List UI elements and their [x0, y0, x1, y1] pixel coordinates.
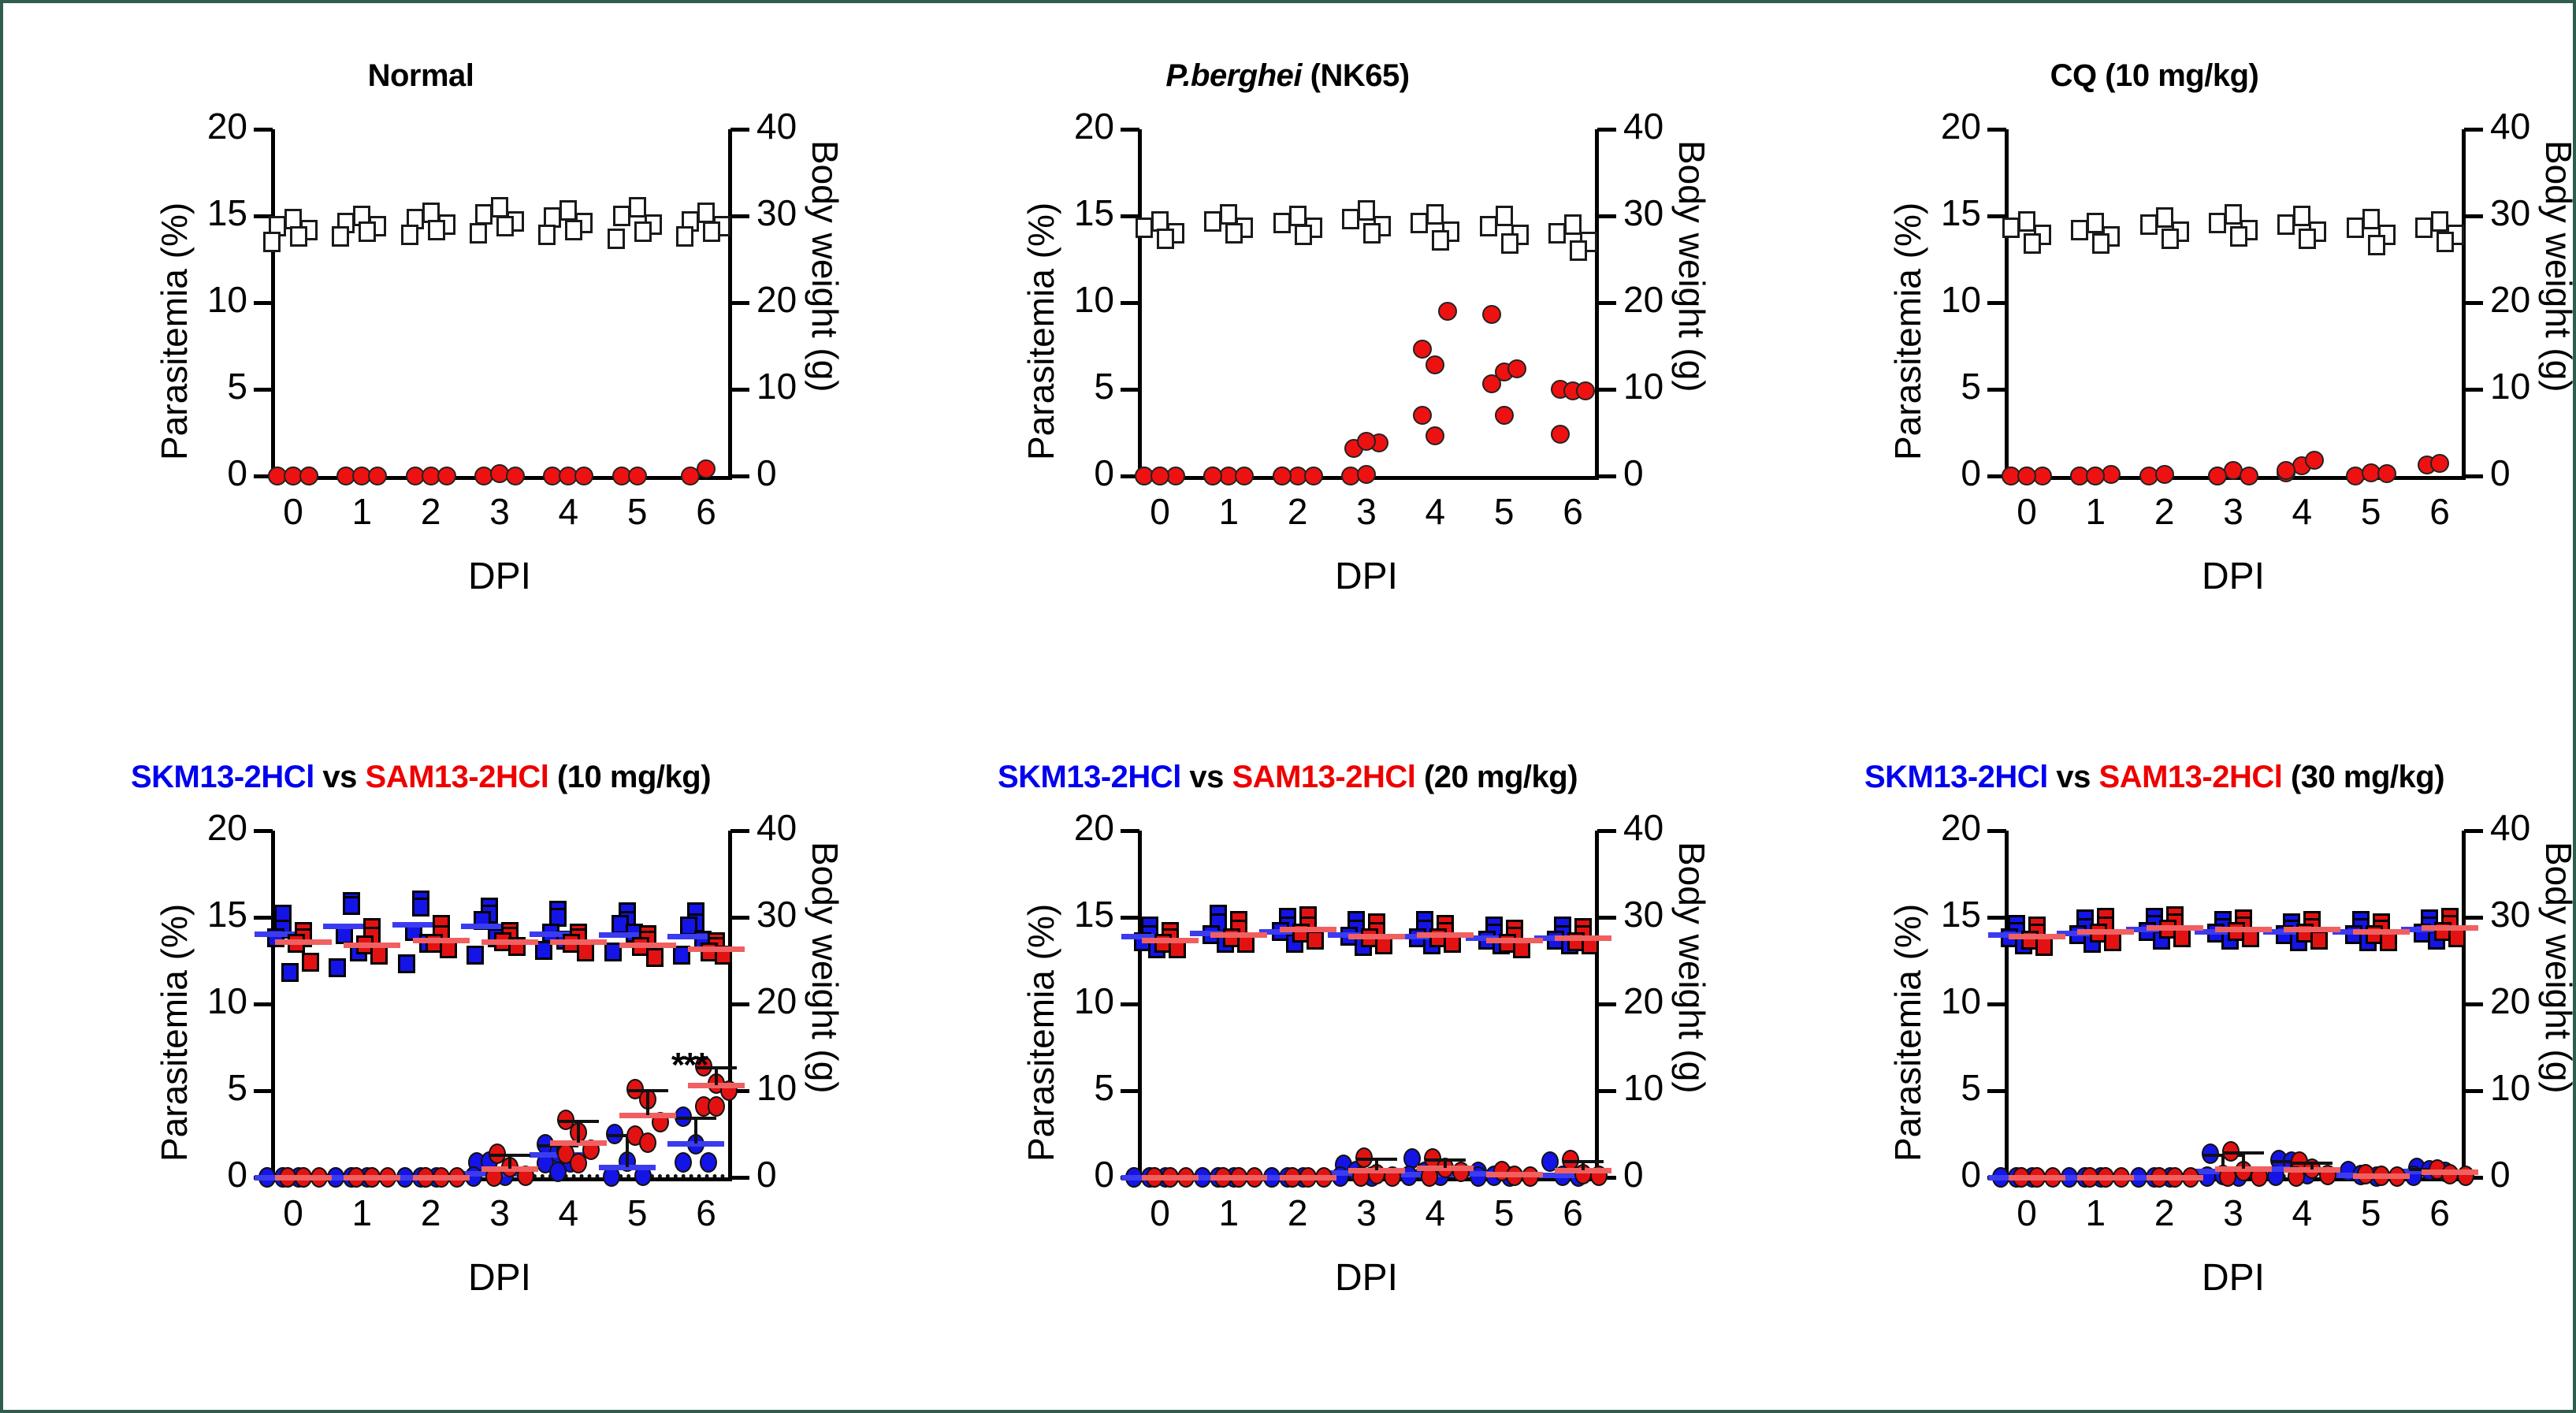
panel-pberghei: P.berghei (NK65)051015200102030400123456…	[988, 50, 1697, 697]
data-point	[370, 946, 388, 965]
data-point	[1426, 426, 1444, 445]
y-tick-right	[1597, 1002, 1616, 1006]
x-tick-label: 2	[400, 493, 463, 530]
x-tick-label: 0	[262, 493, 325, 530]
x-tick-label: 0	[1995, 1195, 2058, 1231]
y-tick-left	[1121, 301, 1139, 305]
y-tick-right	[1597, 301, 1616, 305]
data-point	[2240, 467, 2258, 485]
figure-root: Normal051015200102030400123456Parasitemi…	[0, 0, 2576, 1413]
data-point	[2347, 218, 2364, 238]
y-tick-left	[1121, 1089, 1139, 1093]
y-tick-left	[1987, 301, 2006, 305]
mean-bar	[413, 1175, 470, 1181]
panel-dose30: SKM13-2HCl vs SAM13-2HCl (30 mg/kg)05101…	[1855, 752, 2564, 1398]
data-point	[2380, 932, 2397, 951]
data-point	[299, 467, 318, 485]
y-axis-title-right: Body weight (g)	[804, 842, 846, 1094]
y-tick-right	[730, 128, 749, 132]
x-axis-title: DPI	[271, 555, 728, 598]
mean-bar	[344, 943, 400, 948]
x-tick-label: 4	[1403, 1195, 1466, 1231]
y-tick-label-left: 20	[169, 108, 247, 144]
panel-title-pberghei: P.berghei (NK65)	[988, 58, 1587, 94]
data-point	[1273, 467, 1292, 485]
x-tick-label: 4	[537, 493, 600, 530]
error-bar-cap	[675, 1117, 716, 1120]
y-tick-left	[1987, 829, 2006, 833]
y-tick-right	[730, 1002, 749, 1006]
y-tick-left	[1121, 128, 1139, 132]
mean-bar	[2009, 934, 2065, 939]
data-point	[2368, 235, 2385, 255]
mean-bar	[1348, 934, 1405, 939]
panel-title-dose30: SKM13-2HCl vs SAM13-2HCl (30 mg/kg)	[1855, 760, 2454, 795]
error-bar-cap	[2223, 1151, 2264, 1155]
x-tick-label: 0	[1128, 493, 1191, 530]
data-point	[437, 467, 456, 485]
data-point	[700, 1152, 717, 1173]
mean-bar	[2147, 925, 2203, 931]
mean-bar	[2077, 929, 2134, 935]
y-axis-title-left: Parasitemia (%)	[153, 203, 195, 460]
data-point	[1496, 206, 1513, 226]
y-tick-right	[730, 916, 749, 920]
data-point	[2225, 204, 2242, 225]
x-tick-label: 5	[1473, 1195, 1536, 1231]
data-point	[1480, 216, 1497, 236]
title-part: SAM13-2HCl	[1232, 760, 1416, 794]
y-tick-left	[1121, 916, 1139, 920]
y-tick-right	[2464, 1089, 2483, 1093]
data-point	[2437, 232, 2454, 252]
y-tick-label-right: 40	[756, 809, 835, 846]
x-tick-label: 3	[2202, 1195, 2265, 1231]
x-tick-label: 2	[1266, 493, 1329, 530]
x-axis-title: DPI	[2005, 1256, 2462, 1300]
data-point	[1204, 211, 1221, 232]
data-point	[2310, 931, 2328, 950]
mean-bar	[2284, 927, 2340, 932]
data-point	[290, 226, 307, 247]
panel-title-normal: Normal	[121, 58, 720, 94]
y-tick-label-right: 0	[756, 1156, 835, 1192]
y-axis-title-right: Body weight (g)	[1671, 842, 1713, 1094]
y-tick-right	[1597, 474, 1616, 478]
x-tick-label: 0	[1128, 1195, 1191, 1231]
x-tick-label: 6	[2408, 493, 2471, 530]
x-axis-title: DPI	[271, 1256, 728, 1300]
mean-bar	[275, 939, 332, 945]
y-tick-label-right: 40	[1623, 108, 1702, 144]
data-point	[2071, 220, 2088, 240]
data-point	[1411, 213, 1428, 233]
panel-dose10: SKM13-2HCl vs SAM13-2HCl (10 mg/kg)05101…	[121, 752, 831, 1398]
data-point	[2035, 937, 2053, 956]
title-part: vs	[2048, 760, 2099, 794]
y-tick-left	[1987, 916, 2006, 920]
mean-bar	[481, 939, 538, 945]
x-tick-label: 3	[1335, 493, 1398, 530]
y-tick-left	[1121, 1002, 1139, 1006]
data-point	[2092, 233, 2109, 254]
title-part: (NK65)	[1302, 58, 1410, 93]
data-point	[1507, 359, 1526, 378]
data-point	[646, 948, 664, 967]
x-tick-label: 3	[468, 493, 531, 530]
data-point	[2209, 213, 2226, 233]
x-tick-label: 2	[2133, 493, 2196, 530]
data-point	[2457, 1166, 2474, 1186]
y-tick-right	[2464, 474, 2483, 478]
data-point	[496, 216, 514, 236]
error-bar-cap	[627, 1089, 668, 1092]
x-tick-label: 0	[262, 1195, 325, 1231]
error-bar-line	[577, 1120, 580, 1143]
y-tick-right	[2464, 214, 2483, 218]
y-tick-right	[1597, 916, 1616, 920]
x-tick-label: 6	[1541, 1195, 1604, 1231]
data-point	[2293, 206, 2310, 226]
x-tick-label: 4	[2270, 493, 2333, 530]
data-point	[1576, 381, 1595, 400]
data-point	[1413, 406, 1432, 425]
data-point	[629, 197, 646, 218]
x-tick-label: 0	[1995, 493, 2058, 530]
data-point	[401, 225, 418, 245]
data-point	[1342, 209, 1359, 229]
data-point	[676, 226, 693, 247]
title-part: SKM13-2HCl	[998, 760, 1181, 794]
x-axis-title: DPI	[1138, 1256, 1595, 1300]
x-tick-label: 2	[1266, 1195, 1329, 1231]
x-axis-title: DPI	[2005, 555, 2462, 598]
data-point	[2162, 229, 2179, 249]
mean-bar	[1142, 1175, 1199, 1181]
data-point	[281, 963, 299, 982]
y-tick-right	[1597, 388, 1616, 392]
y-tick-label-right: 0	[1623, 1156, 1702, 1192]
x-tick-label: 1	[1197, 1195, 1260, 1231]
y-tick-right	[2464, 916, 2483, 920]
data-point	[368, 467, 387, 485]
data-point	[1307, 931, 1324, 950]
title-part: (30 mg/kg)	[2282, 760, 2444, 794]
mean-bar	[1210, 1175, 1267, 1181]
y-tick-label-right: 0	[1623, 455, 1702, 491]
data-point	[1157, 229, 1174, 249]
data-point	[1432, 230, 1449, 251]
y-tick-label-left: 20	[169, 809, 247, 846]
data-point	[1289, 206, 1307, 226]
data-point	[634, 221, 652, 242]
data-point	[1357, 465, 1376, 484]
mean-bar	[2077, 1175, 2134, 1181]
error-bar-cap	[558, 1120, 599, 1123]
data-point	[559, 200, 577, 221]
data-point	[491, 197, 508, 218]
title-part: CQ (10 mg/kg)	[2050, 58, 2259, 93]
mean-bar	[550, 939, 607, 945]
data-point	[343, 896, 360, 915]
y-tick-right	[730, 214, 749, 218]
data-point	[398, 954, 415, 973]
title-part: SKM13-2HCl	[131, 760, 314, 794]
data-point	[1235, 467, 1254, 485]
x-tick-label: 3	[468, 1195, 531, 1231]
x-tick-label: 1	[1197, 493, 1260, 530]
y-tick-label-right: 0	[2490, 1156, 2569, 1192]
x-tick-label: 1	[2064, 1195, 2127, 1231]
y-tick-left	[254, 916, 273, 920]
mean-bar	[619, 943, 676, 948]
data-point	[565, 220, 582, 240]
y-tick-label-right: 0	[2490, 455, 2569, 491]
x-tick-label: 2	[2133, 1195, 2196, 1231]
y-tick-label-right: 40	[2490, 108, 2569, 144]
title-part: (20 mg/kg)	[1415, 760, 1578, 794]
mean-bar	[2009, 1175, 2065, 1181]
data-point	[1304, 467, 1323, 485]
data-point	[2017, 467, 2036, 485]
y-tick-right	[730, 1176, 749, 1180]
mean-bar	[413, 938, 470, 943]
data-point	[1136, 218, 1153, 238]
y-tick-right	[1597, 829, 1616, 833]
data-point	[2155, 465, 2174, 484]
data-point	[608, 229, 625, 249]
title-part: vs	[1181, 760, 1232, 794]
y-tick-right	[1597, 1089, 1616, 1093]
data-point	[697, 459, 716, 478]
y-tick-left	[254, 829, 273, 833]
data-point	[1548, 223, 1566, 244]
data-point	[1295, 225, 1312, 245]
data-point	[538, 225, 556, 245]
y-tick-left	[1987, 128, 2006, 132]
y-tick-right	[2464, 829, 2483, 833]
y-tick-right	[2464, 388, 2483, 392]
data-point	[1363, 223, 1381, 244]
y-tick-right	[1597, 214, 1616, 218]
x-tick-label: 6	[675, 493, 738, 530]
y-tick-left	[254, 128, 273, 132]
y-tick-left	[1121, 829, 1139, 833]
y-axis-title-right: Body weight (g)	[2537, 140, 2576, 392]
x-tick-label: 4	[1403, 493, 1466, 530]
y-tick-right	[2464, 301, 2483, 305]
x-tick-label: 6	[2408, 1195, 2471, 1231]
mean-bar	[1280, 927, 1336, 932]
x-tick-label: 6	[675, 1195, 738, 1231]
y-tick-label-left: 20	[1035, 108, 1114, 144]
data-point	[428, 220, 445, 240]
y-tick-label-left: 20	[1902, 108, 1981, 144]
x-tick-label: 3	[1335, 1195, 1398, 1231]
mean-bar	[1280, 1175, 1336, 1181]
data-point	[2173, 928, 2191, 947]
data-point	[1150, 467, 1169, 485]
y-tick-left	[254, 1089, 273, 1093]
data-point	[639, 1132, 656, 1153]
data-point	[2277, 214, 2295, 235]
data-point	[2415, 218, 2433, 238]
data-point	[2156, 207, 2173, 228]
panel-title-dose10: SKM13-2HCl vs SAM13-2HCl (10 mg/kg)	[121, 760, 720, 795]
data-point	[2362, 209, 2380, 229]
data-point	[2448, 928, 2466, 947]
data-point	[412, 898, 429, 917]
x-axis-title: DPI	[1138, 555, 1595, 598]
significance-marker: ***	[671, 1046, 707, 1085]
mean-bar	[344, 1175, 400, 1181]
data-point	[577, 943, 594, 961]
data-point	[263, 232, 281, 252]
data-point	[1225, 223, 1243, 244]
data-point	[675, 1152, 692, 1173]
data-point	[2104, 932, 2121, 951]
panel-title-dose20: SKM13-2HCl vs SAM13-2HCl (20 mg/kg)	[988, 760, 1587, 795]
y-tick-right	[730, 388, 749, 392]
data-point	[1220, 204, 1237, 225]
mean-bar	[1486, 1172, 1543, 1177]
data-point	[613, 206, 630, 226]
data-point	[2018, 211, 2035, 232]
y-axis-title-left: Parasitemia (%)	[1020, 203, 1062, 460]
data-point	[1438, 302, 1457, 321]
error-bar-cap	[1563, 1160, 1604, 1163]
y-tick-left	[1987, 1089, 2006, 1093]
panel-title-cq: CQ (10 mg/kg)	[1855, 58, 2454, 94]
y-tick-label-left: 20	[1902, 809, 1981, 846]
data-point	[1357, 432, 1376, 451]
data-point	[2024, 233, 2041, 254]
data-point	[703, 221, 720, 242]
x-tick-label: 4	[537, 1195, 600, 1231]
y-axis-title-right: Body weight (g)	[804, 140, 846, 392]
y-axis-title-left: Parasitemia (%)	[1886, 203, 1929, 460]
y-tick-left	[1121, 388, 1139, 392]
data-point	[708, 1096, 725, 1117]
data-point	[302, 953, 319, 972]
data-point	[2002, 218, 2020, 238]
x-tick-label: 1	[330, 493, 393, 530]
data-point	[506, 467, 525, 485]
mean-bar	[2147, 1175, 2203, 1181]
data-point	[467, 946, 484, 965]
data-point	[2377, 464, 2396, 483]
error-bar-cap	[2292, 1162, 2333, 1165]
y-tick-label-right: 40	[2490, 809, 2569, 846]
panel-dose20: SKM13-2HCl vs SAM13-2HCl (20 mg/kg)05101…	[988, 752, 1697, 1398]
y-tick-right	[1597, 128, 1616, 132]
y-axis-title-right: Body weight (g)	[2537, 842, 2576, 1094]
x-tick-label: 2	[400, 1195, 463, 1231]
title-part: vs	[314, 760, 366, 794]
x-tick-label: 3	[2202, 493, 2265, 530]
mean-bar	[1417, 932, 1474, 938]
error-bar-line	[646, 1089, 649, 1115]
x-tick-label: 1	[2064, 493, 2127, 530]
x-tick-label: 5	[606, 1195, 669, 1231]
y-tick-left	[1987, 1002, 2006, 1006]
data-point	[1482, 305, 1501, 324]
mean-bar	[688, 946, 745, 952]
x-tick-label: 4	[2270, 1195, 2333, 1231]
data-point	[332, 226, 349, 247]
data-point	[697, 203, 715, 223]
data-point	[1551, 425, 1570, 444]
data-point	[2305, 451, 2324, 470]
data-point	[2086, 467, 2105, 485]
mean-bar	[2422, 925, 2478, 931]
y-tick-left	[254, 1002, 273, 1006]
y-axis-title-left: Parasitemia (%)	[153, 904, 195, 1162]
title-part: SAM13-2HCl	[366, 760, 549, 794]
y-tick-right	[730, 474, 749, 478]
data-point	[1570, 240, 1587, 261]
data-point	[1564, 214, 1582, 235]
mean-bar	[2215, 927, 2272, 932]
mean-bar	[2422, 1169, 2478, 1175]
x-tick-label: 5	[606, 493, 669, 530]
error-bar-cap	[1425, 1158, 1466, 1162]
data-point	[570, 1153, 587, 1173]
data-point	[1273, 213, 1291, 233]
y-axis-title-left: Parasitemia (%)	[1886, 904, 1929, 1162]
y-tick-label-left: 20	[1035, 809, 1114, 846]
x-tick-label: 5	[2340, 1195, 2403, 1231]
title-part: Normal	[368, 58, 474, 93]
data-point	[2431, 211, 2448, 232]
title-part: SKM13-2HCl	[1864, 760, 2048, 794]
data-point	[2230, 226, 2247, 247]
y-tick-label-right: 40	[1623, 809, 1702, 846]
title-part: (10 mg/kg)	[548, 760, 711, 794]
data-point	[2299, 229, 2316, 249]
x-tick-label: 5	[2340, 493, 2403, 530]
y-tick-left	[1987, 388, 2006, 392]
y-tick-right	[730, 829, 749, 833]
y-axis-title-right: Body weight (g)	[1671, 140, 1713, 392]
error-bar-line	[694, 1117, 697, 1143]
mean-bar	[1555, 935, 1611, 941]
data-point	[475, 204, 493, 225]
data-point	[470, 223, 487, 244]
mean-bar	[2353, 1173, 2410, 1179]
x-tick-label: 5	[1473, 493, 1536, 530]
data-point	[359, 221, 376, 242]
mean-bar	[2353, 929, 2410, 935]
mean-bar	[1142, 938, 1199, 943]
data-point	[329, 958, 346, 977]
data-point	[1501, 233, 1518, 254]
mean-bar	[275, 1175, 332, 1181]
y-tick-right	[2464, 1002, 2483, 1006]
error-bar-cap	[1356, 1158, 1397, 1161]
data-point	[1426, 204, 1444, 225]
data-point	[628, 467, 647, 485]
data-point	[1426, 355, 1444, 374]
y-tick-left	[254, 388, 273, 392]
data-point	[2087, 213, 2104, 233]
title-part: SAM13-2HCl	[2099, 760, 2283, 794]
y-tick-label-right: 0	[756, 455, 835, 491]
x-tick-label: 6	[1541, 493, 1604, 530]
data-point	[2208, 467, 2227, 485]
data-point	[1495, 406, 1514, 425]
panel-normal: Normal051015200102030400123456Parasitemi…	[121, 50, 831, 697]
